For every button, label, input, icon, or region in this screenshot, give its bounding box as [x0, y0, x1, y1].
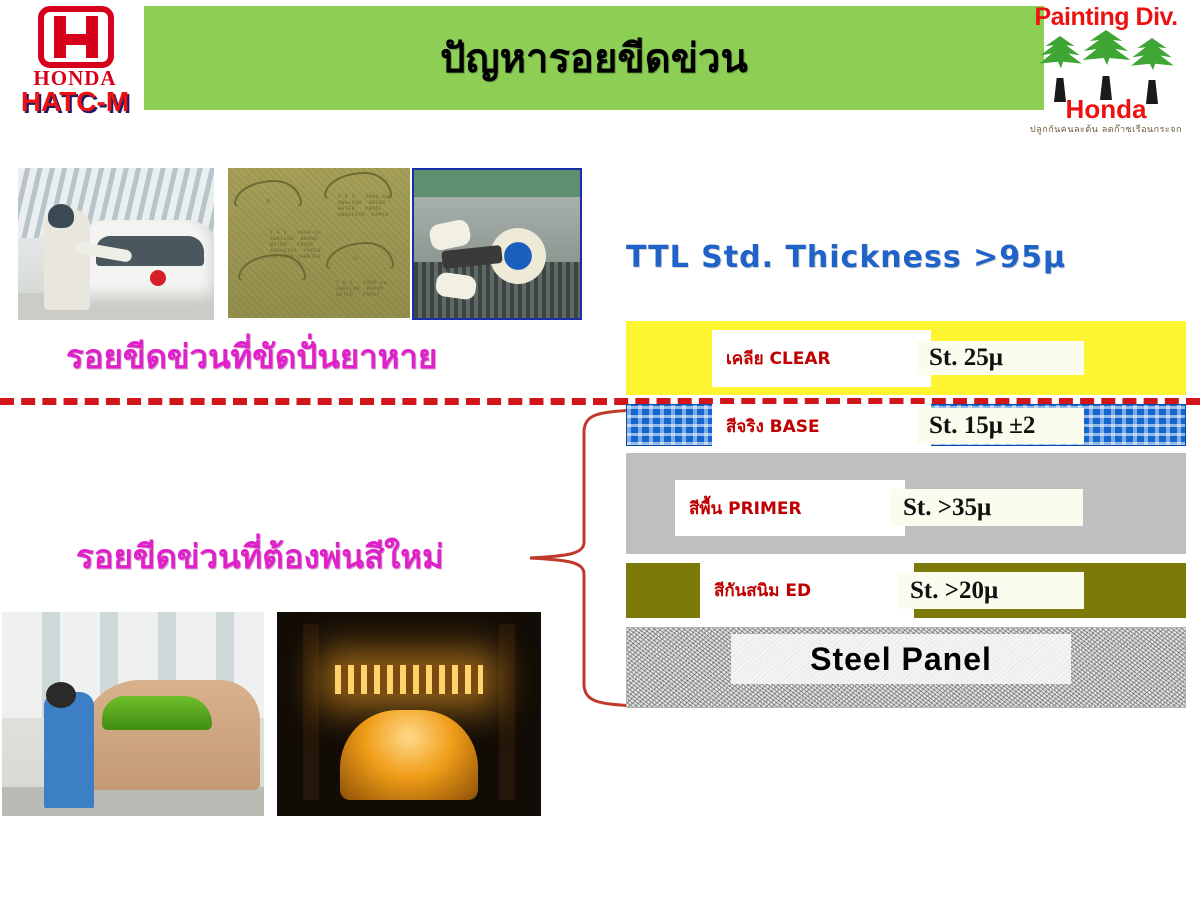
caption-repaint-required-scratch: รอยขีดข่วนที่ต้องพ่นสีใหม่ [76, 530, 444, 583]
repaint-scope-brace-icon [528, 404, 640, 712]
layer-value-base: St. 15μ ±2 [917, 408, 1084, 444]
caption-polish-removable-scratch: รอยขีดข่วนที่ขัดปั่นยาหาย [66, 330, 437, 383]
layer-label-base: สีจริง BASE [712, 404, 931, 448]
hatc-plant-text: HATC-M [10, 86, 140, 118]
photo-abrasive-paper: T K X 2000-Cw SWALLOW BRAND WATER PROOF … [228, 168, 410, 318]
layer-label-clear: เคลีย CLEAR [712, 330, 931, 387]
photo-respray-booth [2, 612, 264, 816]
page-title: ปัญหารอยขีดข่วน [144, 6, 1044, 110]
layer-value-primer: St. >35μ [891, 489, 1083, 526]
honda-logo: HONDA HATC-M [10, 4, 140, 122]
honda-h-mark-icon [38, 6, 114, 68]
photo-polishing-buffer [412, 168, 582, 320]
painting-div-logo: Painting Div. Honda ปลูกกันคนละต้น ลดก๊า… [1012, 2, 1200, 142]
layer-label-ed: สีกันสนิม ED [700, 563, 914, 618]
painting-div-title: Painting Div. [1012, 2, 1200, 32]
thickness-title: TTL Std. Thickness >95μ [626, 240, 1186, 275]
slide-root: ปัญหารอยขีดข่วน HONDA HATC-M Painting Di… [0, 0, 1200, 900]
tree-group-icon [1012, 30, 1200, 100]
photo-curing-oven [277, 612, 541, 816]
layer-value-ed: St. >20μ [898, 572, 1084, 609]
honda-h-bridge [64, 34, 88, 45]
painting-div-tagline: ปลูกกันคนละต้น ลดก๊าซเรือนกระจก [1012, 122, 1200, 136]
layer-value-clear: St. 25μ [917, 341, 1084, 375]
layer-label-primer: สีพื้น PRIMER [675, 480, 905, 536]
layer-label-steel-panel: Steel Panel [731, 634, 1071, 684]
photo-inspection-booth [18, 168, 214, 320]
